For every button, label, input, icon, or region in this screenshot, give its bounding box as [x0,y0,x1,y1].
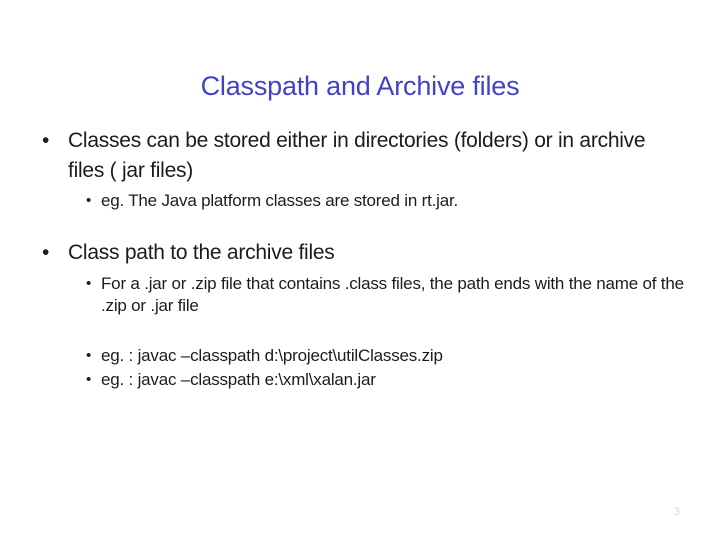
bullet-item-level1: • Class path to the archive files [36,238,684,268]
presentation-slide: Classpath and Archive files • Classes ca… [0,0,720,539]
bullet-marker-icon: • [86,273,100,295]
bullet-marker-icon: • [42,238,58,268]
bullet-item-level2: • For a .jar or .zip file that contains … [36,273,684,317]
bullet-marker-icon: • [86,369,100,391]
bullet-item-level2: • eg. The Java platform classes are stor… [36,190,684,212]
bullet-item-level1: • Classes can be stored either in direct… [36,126,684,186]
slide-number: 3 [674,505,680,519]
bullet-text: eg. : javac –classpath e:\xml\xalan.jar [101,369,684,391]
slide-body: • Classes can be stored either in direct… [36,126,684,391]
bullet-marker-icon: • [86,345,100,367]
bullet-text: For a .jar or .zip file that contains .c… [101,273,684,317]
bullet-text: Class path to the archive files [68,238,684,268]
bullet-text: eg. : javac –classpath d:\project\utilCl… [101,345,684,367]
bullet-text: eg. The Java platform classes are stored… [101,190,684,212]
bullet-item-level2: • eg. : javac –classpath e:\xml\xalan.ja… [36,369,684,391]
bullet-marker-icon: • [86,190,100,212]
bullet-text: Classes can be stored either in director… [68,126,684,186]
slide-title: Classpath and Archive files [0,70,720,102]
bullet-marker-icon: • [42,126,58,156]
bullet-item-level2: • eg. : javac –classpath d:\project\util… [36,345,684,367]
